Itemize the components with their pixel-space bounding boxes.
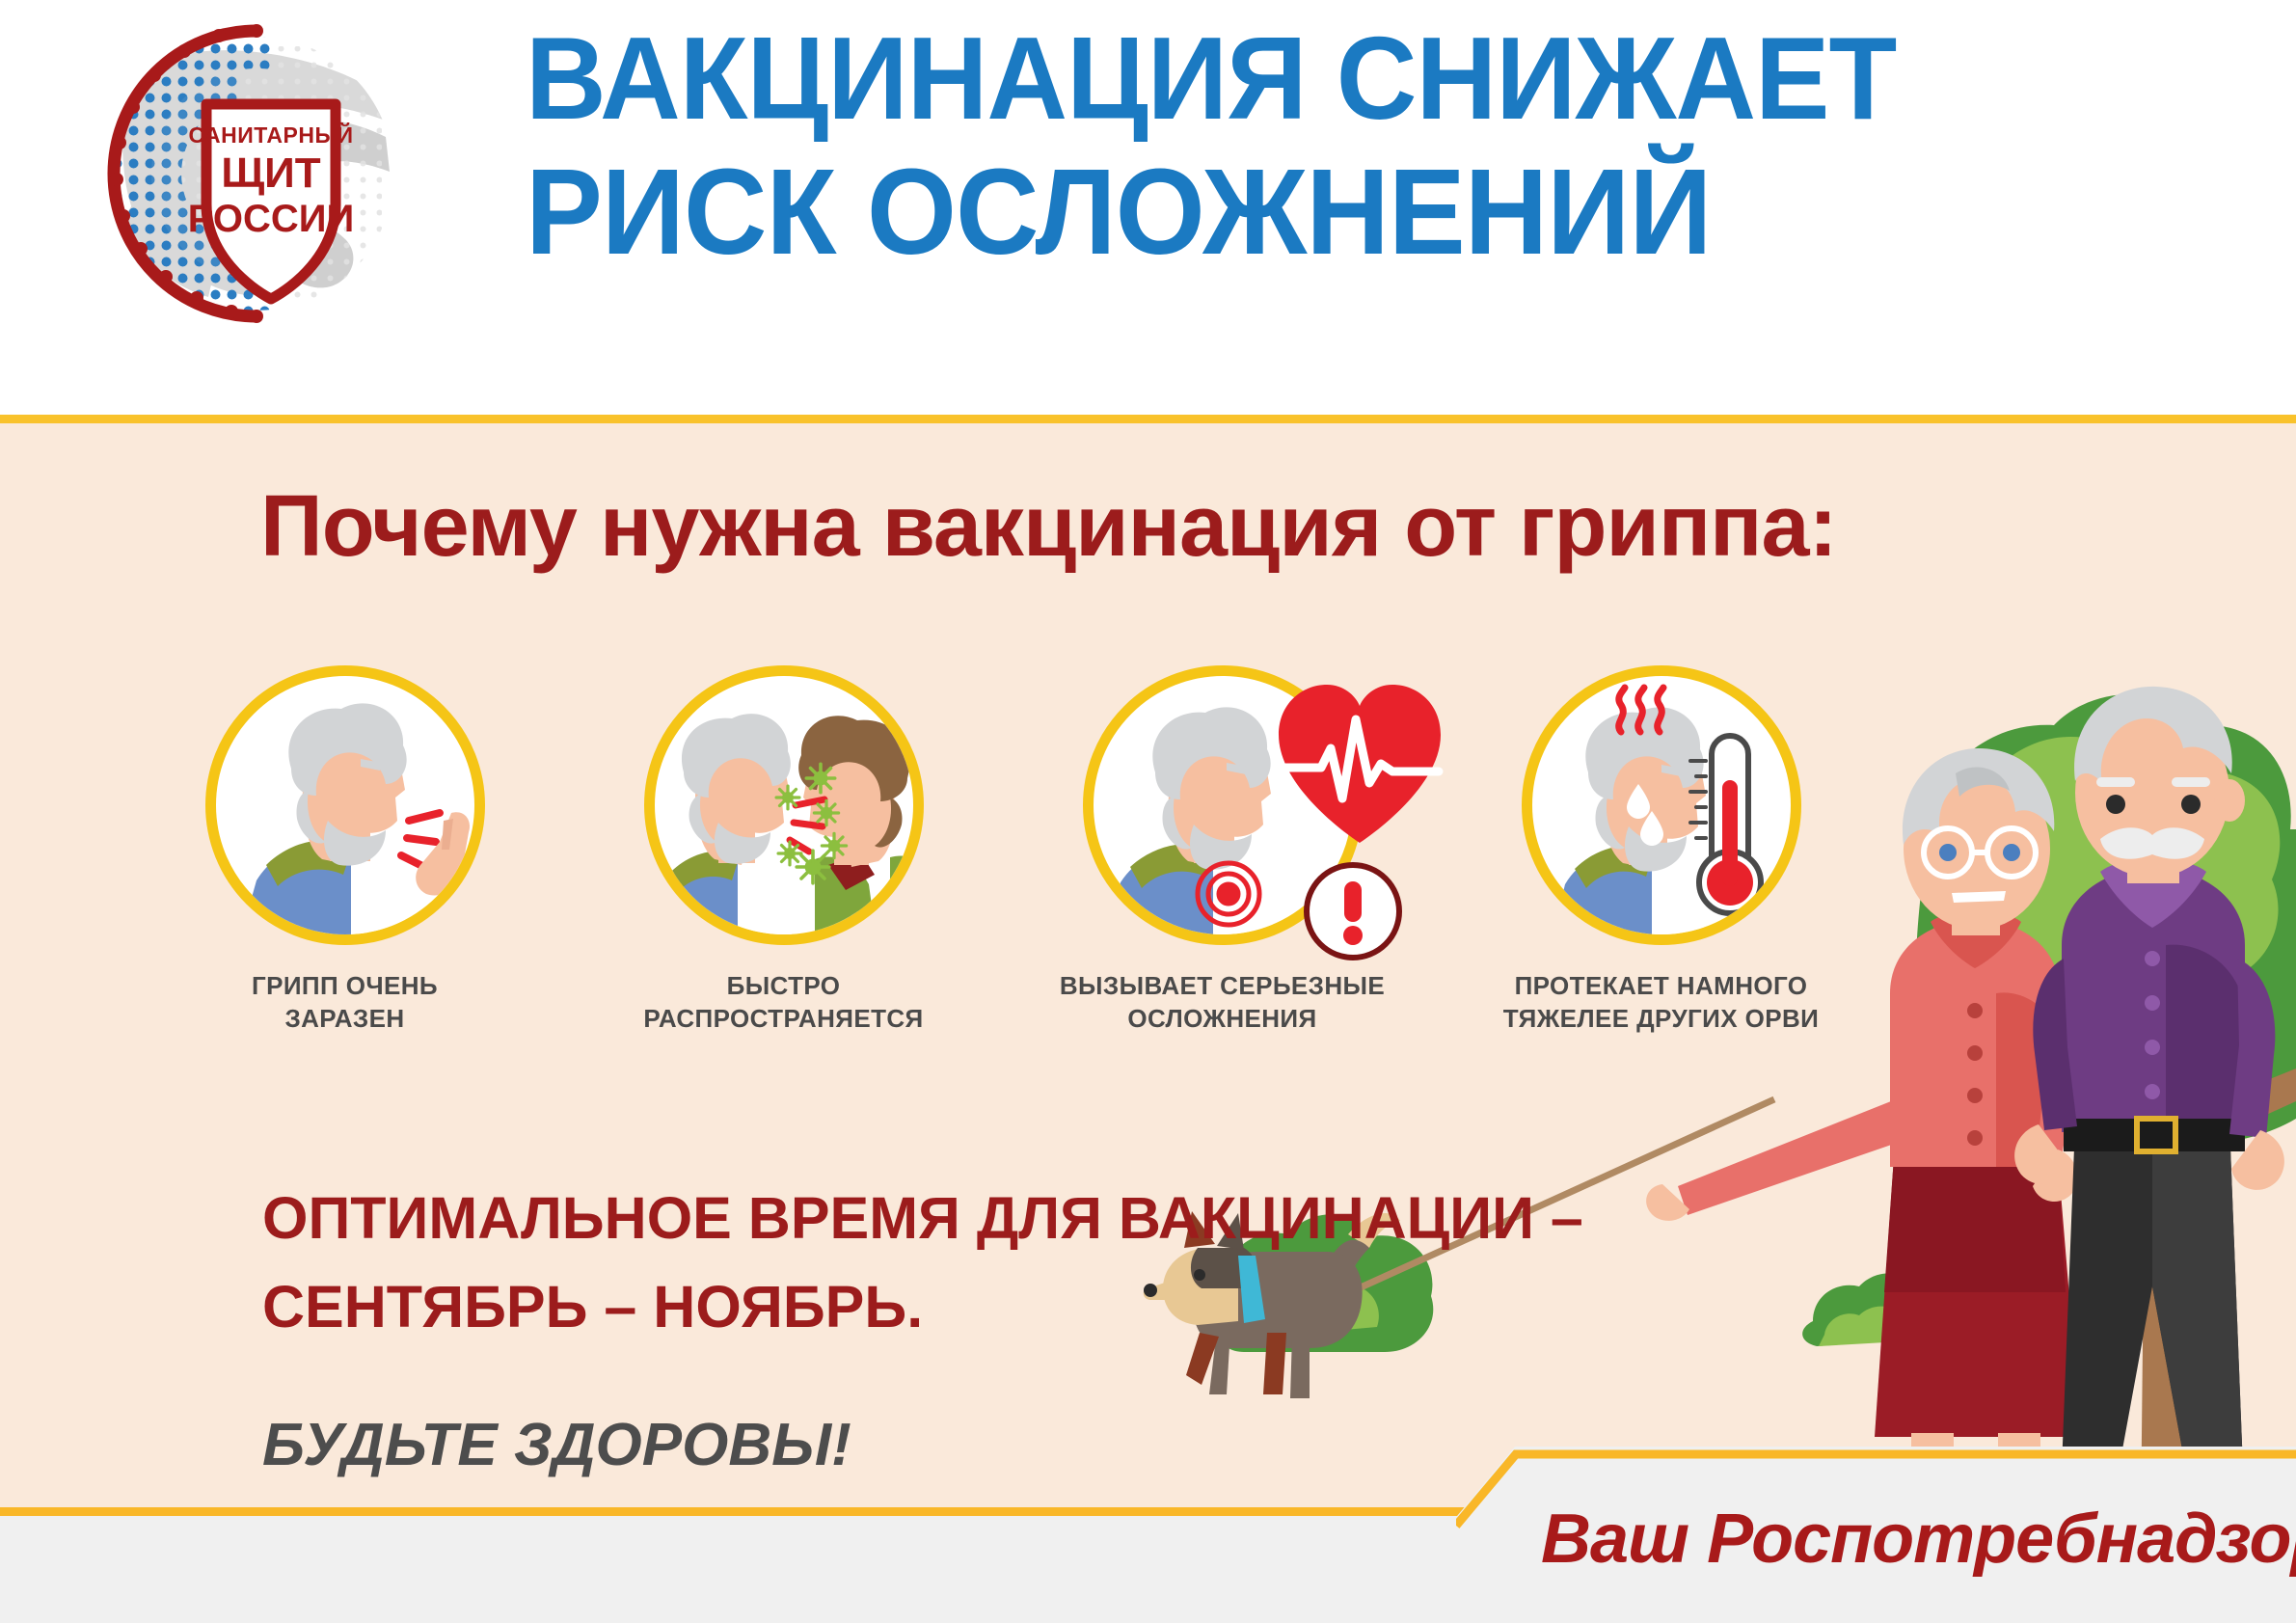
reasons-icon-row: ГРИПП ОЧЕНЬ ЗАРАЗЕН xyxy=(125,665,1880,1070)
virus-transmission-icon xyxy=(644,665,924,945)
reason-label: ГРИПП ОЧЕНЬ ЗАРАЗЕН xyxy=(252,970,438,1036)
bush-small-icon xyxy=(1802,1273,1958,1346)
elderly-man xyxy=(2014,687,2284,1524)
reason-label: ВЫЗЫВАЕТ СЕРЬЕЗНЫЕ ОСЛОЖНЕНИЯ xyxy=(1060,970,1385,1036)
tree-icon xyxy=(1916,694,2296,1524)
reason-item-contagious: ГРИПП ОЧЕНЬ ЗАРАЗЕН xyxy=(125,665,564,1070)
section-heading: Почему нужна вакцинация от гриппа: xyxy=(260,477,1837,577)
brand-label: Ваш Роспотребнадзор xyxy=(1541,1500,2296,1579)
sanitary-shield-logo: САНИТАРНЫЙ ЩИТ РОССИИ xyxy=(93,8,420,336)
poster-root: САНИТАРНЫЙ ЩИТ РОССИИ ВАКЦИНАЦИЯ СНИЖАЕТ… xyxy=(0,0,2296,1623)
reason-label: ПРОТЕКАЕТ НАМНОГО ТЯЖЕЛЕЕ ДРУГИХ ОРВИ xyxy=(1503,970,1820,1036)
title-line-2: РИСК ОСЛОЖНЕНИЙ xyxy=(526,152,2166,271)
logo-line2: ЩИТ xyxy=(221,149,320,197)
reason-item-spreads: БЫСТРО РАСПРОСТРАНЯЕТСЯ xyxy=(564,665,1003,1070)
header-divider xyxy=(0,415,2296,423)
fever-thermometer-icon xyxy=(1522,665,1801,945)
optimal-time-line-1: ОПТИМАЛЬНОЕ ВРЕМЯ ДЛЯ ВАКЦИНАЦИИ – xyxy=(262,1175,1612,1263)
reason-item-severe: ПРОТЕКАЕТ НАМНОГО ТЯЖЕЛЕЕ ДРУГИХ ОРВИ xyxy=(1442,665,1880,1070)
thermometer-icon xyxy=(1690,736,1761,913)
title-line-1: ВАКЦИНАЦИЯ СНИЖАЕТ xyxy=(526,21,2166,137)
logo-line1: САНИТАРНЫЙ xyxy=(189,122,354,148)
coughing-man-icon xyxy=(205,665,485,945)
poster-title: ВАКЦИНАЦИЯ СНИЖАЕТ РИСК ОСЛОЖНЕНИЙ xyxy=(526,21,2252,271)
bottom-message: ОПТИМАЛЬНОЕ ВРЕМЯ ДЛЯ ВАКЦИНАЦИИ – СЕНТЯ… xyxy=(262,1175,1612,1479)
optimal-time-line-2: СЕНТЯБРЬ – НОЯБРЬ. xyxy=(262,1263,1612,1352)
logo-line3: РОССИИ xyxy=(188,198,355,240)
alert-exclamation-icon xyxy=(1300,858,1406,964)
be-healthy-line: БУДЬТЕ ЗДОРОВЫ! xyxy=(262,1411,1612,1479)
reason-label: БЫСТРО РАСПРОСТРАНЯЕТСЯ xyxy=(643,970,923,1036)
